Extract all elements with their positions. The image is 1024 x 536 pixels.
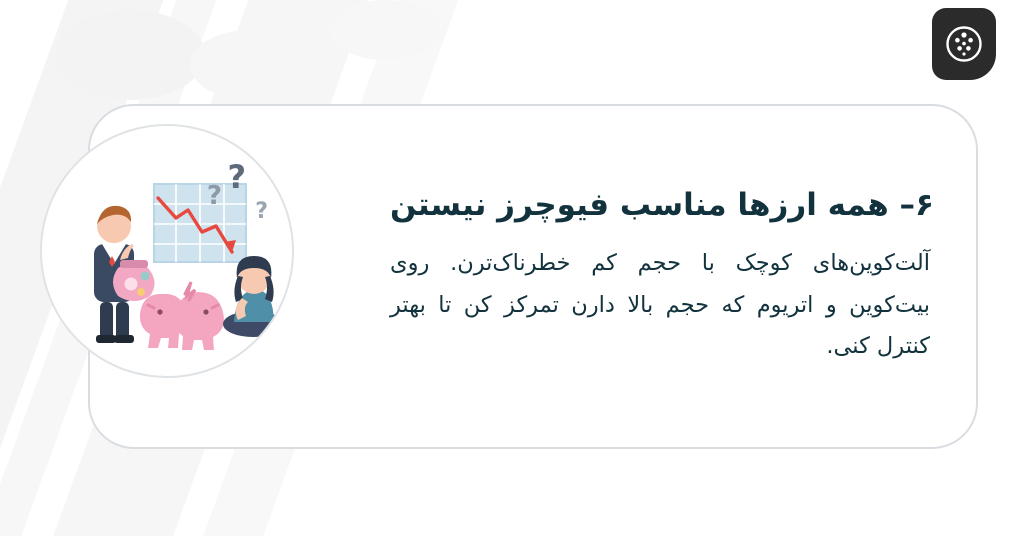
page-title: ۶– همه ارزها مناسب فیوچرز نیستن	[390, 185, 934, 227]
slide-canvas: ۶– همه ارزها مناسب فیوچرز نیستن آلت‌کوین…	[0, 0, 1024, 536]
background-blob	[190, 30, 310, 100]
body-paragraph: آلت‌کوین‌های کوچک با حجم کم خطرناک‌ترن. …	[390, 243, 930, 368]
background-blob	[330, 0, 440, 60]
svg-text:?: ?	[207, 181, 222, 211]
brand-logo-badge	[932, 8, 996, 80]
svg-text:?: ?	[227, 158, 246, 196]
background-blob	[55, 10, 205, 100]
card-text-area: ۶– همه ارزها مناسب فیوچرز نیستن آلت‌کوین…	[390, 106, 936, 447]
molecule-dots-logo-icon	[944, 24, 984, 64]
investor-loss-illustration: ? ? ?	[40, 124, 294, 378]
svg-text:?: ?	[255, 199, 268, 224]
